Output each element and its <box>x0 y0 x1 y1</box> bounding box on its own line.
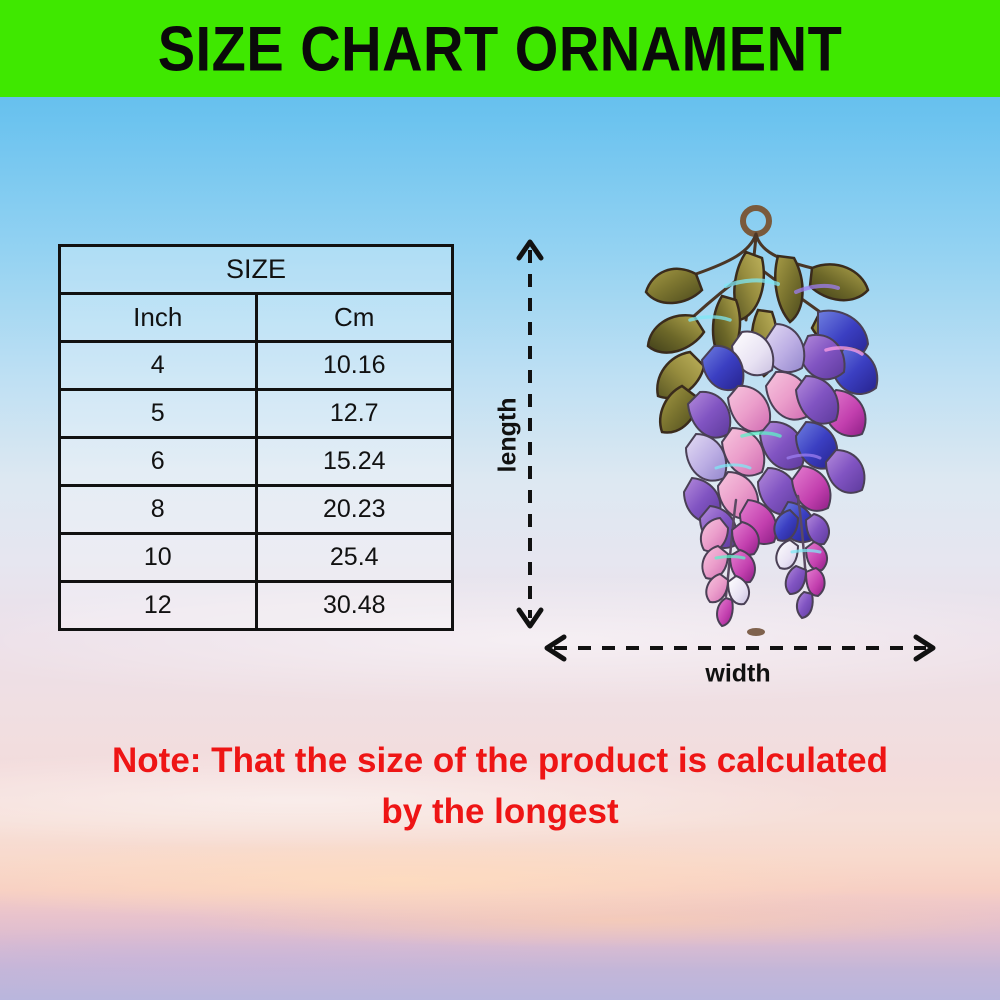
cell-cm: 10.16 <box>256 342 453 390</box>
cell-inch: 12 <box>60 582 257 630</box>
cell-inch: 10 <box>60 534 257 582</box>
note-line-1: Note: That the size of the product is ca… <box>50 736 950 787</box>
size-chart-table: SIZE Inch Cm 4 10.16 5 12.7 6 15.24 8 20… <box>58 244 454 631</box>
cell-cm: 20.23 <box>256 486 453 534</box>
table-row: 12 30.48 <box>60 582 453 630</box>
table-row: 6 15.24 <box>60 438 453 486</box>
table-header-row: SIZE <box>60 246 453 294</box>
length-dimension-label: length <box>494 398 523 473</box>
note-text: Note: That the size of the product is ca… <box>50 736 950 838</box>
size-chart-page: SIZE CHART ORNAMENT SIZE Inch Cm 4 10.16… <box>0 0 1000 1000</box>
width-dimension-label: width <box>705 660 770 689</box>
table-row: 8 20.23 <box>60 486 453 534</box>
column-header-inch: Inch <box>60 294 257 342</box>
note-line-2: by the longest <box>50 787 950 838</box>
header-banner: SIZE CHART ORNAMENT <box>0 0 1000 97</box>
table-column-head-row: Inch Cm <box>60 294 453 342</box>
page-title: SIZE CHART ORNAMENT <box>158 17 843 80</box>
product-image-wisteria-suncatcher <box>630 200 890 640</box>
cell-inch: 5 <box>60 390 257 438</box>
cell-inch: 4 <box>60 342 257 390</box>
table-row: 10 25.4 <box>60 534 453 582</box>
table-row: 5 12.7 <box>60 390 453 438</box>
cell-cm: 12.7 <box>256 390 453 438</box>
cell-cm: 15.24 <box>256 438 453 486</box>
table-row: 4 10.16 <box>60 342 453 390</box>
cell-inch: 8 <box>60 486 257 534</box>
table-title-cell: SIZE <box>60 246 453 294</box>
column-header-cm: Cm <box>256 294 453 342</box>
cell-cm: 25.4 <box>256 534 453 582</box>
cell-inch: 6 <box>60 438 257 486</box>
cell-cm: 30.48 <box>256 582 453 630</box>
